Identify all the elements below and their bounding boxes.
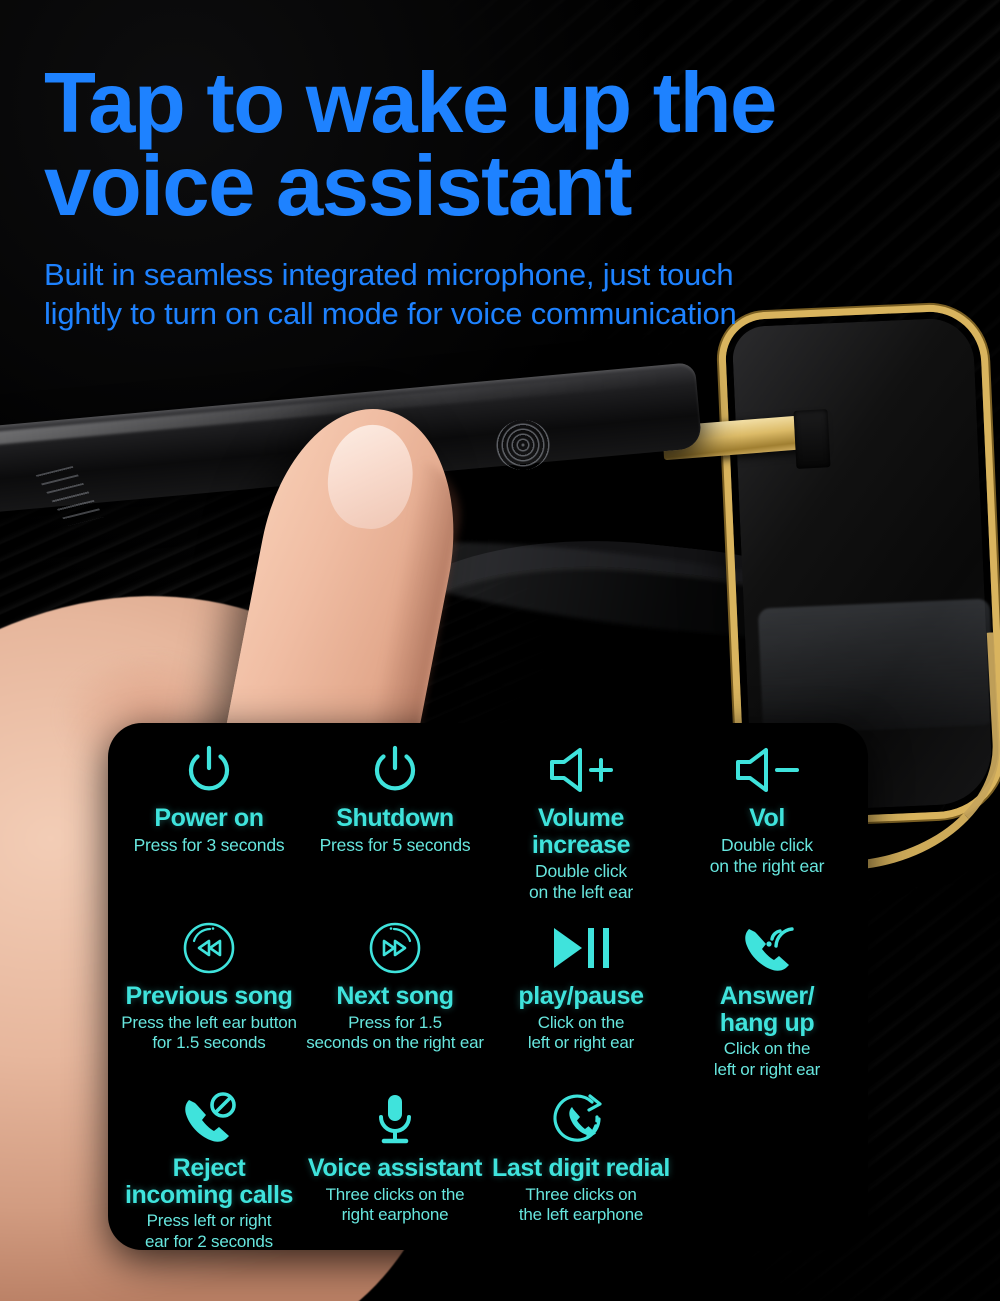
- feature-cell-reject-call: Reject incoming calls Press left or righ…: [116, 1089, 302, 1252]
- next-song-icon: [366, 917, 424, 979]
- feature-cell-shutdown: Shutdown Press for 5 seconds: [302, 739, 488, 856]
- feature-subtitle: Three clicks on the right earphone: [326, 1185, 465, 1226]
- feature-cell-last-digit-redial: Last digit redial Three clicks on the le…: [488, 1089, 674, 1226]
- feature-subtitle: Press for 1.5 seconds on the right ear: [306, 1013, 484, 1054]
- feature-title: Voice assistant: [308, 1155, 482, 1182]
- feature-cell-previous-song: Previous song Press the left ear button …: [116, 917, 302, 1054]
- page-subtitle: Built in seamless integrated microphone,…: [44, 255, 954, 334]
- feature-cell-next-song: Next song Press for 1.5 seconds on the r…: [302, 917, 488, 1054]
- feature-subtitle: Click on the left or right ear: [528, 1013, 634, 1054]
- feature-title: Shutdown: [336, 805, 454, 832]
- power-on-icon: [182, 739, 236, 801]
- feature-title: Next song: [336, 983, 453, 1010]
- headline-block: Tap to wake up the voice assistant Built…: [44, 62, 954, 334]
- shutdown-icon: [368, 739, 422, 801]
- feature-row-3: Reject incoming calls Press left or righ…: [116, 1089, 860, 1249]
- feature-subtitle: Press for 3 seconds: [134, 835, 285, 856]
- volume-increase-icon: [544, 739, 618, 801]
- feature-cell-volume-decrease: Vol Double click on the right ear: [674, 739, 860, 877]
- page-title: Tap to wake up the voice assistant: [44, 62, 954, 229]
- feature-title: play/pause: [518, 983, 643, 1010]
- feature-subtitle: Click on the left or right ear: [714, 1039, 820, 1080]
- feature-title: Last digit redial: [492, 1155, 670, 1182]
- glasses-hinge: [794, 409, 831, 469]
- answer-hangup-icon: [736, 917, 798, 979]
- feature-cell-answer-hangup: Answer/ hang up Click on the left or rig…: [674, 917, 860, 1080]
- promo-poster: Tap to wake up the voice assistant Built…: [0, 0, 1000, 1301]
- feature-title: Reject incoming calls: [125, 1155, 293, 1208]
- feature-subtitle: Double click on the right ear: [710, 835, 825, 878]
- voice-assistant-microphone-icon: [372, 1089, 418, 1151]
- feature-title: Previous song: [125, 983, 292, 1010]
- feature-title: Vol: [749, 805, 785, 832]
- feature-title: Power on: [154, 805, 263, 832]
- feature-title: Answer/ hang up: [720, 983, 814, 1036]
- play-pause-icon: [546, 917, 616, 979]
- feature-subtitle: Double click on the left ear: [529, 861, 633, 904]
- feature-subtitle: Press for 5 seconds: [320, 835, 471, 856]
- feature-cell-power-on: Power on Press for 3 seconds: [116, 739, 302, 856]
- feature-row-2: Previous song Press the left ear button …: [116, 917, 860, 1089]
- feature-row-1: Power on Press for 3 seconds Shutdown Pr…: [116, 739, 860, 917]
- control-gestures-panel: Power on Press for 3 seconds Shutdown Pr…: [108, 723, 868, 1250]
- last-digit-redial-icon: [552, 1089, 610, 1151]
- feature-subtitle: Three clicks on the left earphone: [519, 1185, 643, 1226]
- feature-title: Volume increase: [491, 805, 671, 858]
- volume-decrease-icon: [730, 739, 804, 801]
- reject-call-icon: [178, 1089, 240, 1151]
- feature-subtitle: Press the left ear button for 1.5 second…: [121, 1013, 297, 1054]
- feature-cell-play-pause: play/pause Click on the left or right ea…: [488, 917, 674, 1054]
- feature-subtitle: Press left or right ear for 2 seconds: [145, 1211, 273, 1252]
- previous-song-icon: [180, 917, 238, 979]
- feature-cell-voice-assistant: Voice assistant Three clicks on the righ…: [302, 1089, 488, 1226]
- feature-cell-volume-increase: Volume increase Double click on the left…: [488, 739, 674, 904]
